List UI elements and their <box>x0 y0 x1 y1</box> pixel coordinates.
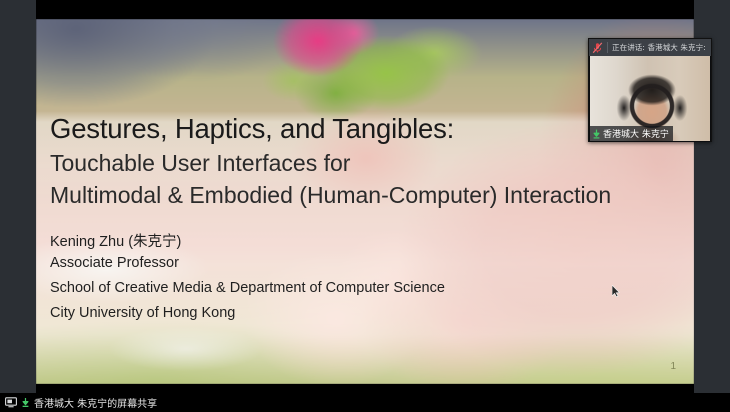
slide-subtitle-line-1: Touchable User Interfaces for <box>50 150 350 177</box>
video-tile[interactable]: 香港城大 朱克宁 <box>589 56 711 142</box>
left-chrome-rail <box>0 0 36 393</box>
letterbox-bottom <box>36 384 694 393</box>
slide-page-number: 1 <box>670 361 676 372</box>
slide-author-department: School of Creative Media & Department of… <box>50 280 445 296</box>
mic-muted-icon <box>592 42 603 54</box>
arrow-down-icon <box>21 397 30 408</box>
slide-subtitle-line-2: Multimodal & Embodied (Human-Computer) I… <box>50 182 611 209</box>
slide-title: Gestures, Haptics, and Tangibles: <box>50 113 454 145</box>
zoom-share-window: Gestures, Haptics, and Tangibles: Toucha… <box>0 0 730 412</box>
screen-share-status-bar: 香港城大 朱克宁的屏幕共享 <box>0 393 730 412</box>
active-speaker-video-panel[interactable]: 正在讲话: 香港城大 朱克宁: 香港城大 朱克宁 <box>588 38 712 142</box>
header-divider <box>607 42 608 53</box>
arrow-down-icon <box>592 129 601 139</box>
slide-author-institution: City University of Hong Kong <box>50 305 235 321</box>
participant-name-badge: 香港城大 朱克宁 <box>590 126 673 141</box>
letterbox-top <box>36 0 694 19</box>
video-panel-header: 正在讲话: 香港城大 朱克宁: <box>589 39 711 56</box>
slide-author-title: Associate Professor <box>50 255 179 271</box>
slide-author-name: Kening Zhu (朱克宁) <box>50 230 181 251</box>
mouse-cursor-icon <box>612 285 620 297</box>
screen-share-status-text: 香港城大 朱克宁的屏幕共享 <box>34 395 157 410</box>
active-speaker-label: 正在讲话: 香港城大 朱克宁: <box>612 42 706 53</box>
participant-name: 香港城大 朱克宁 <box>603 127 669 140</box>
screen-share-icon <box>5 397 17 408</box>
